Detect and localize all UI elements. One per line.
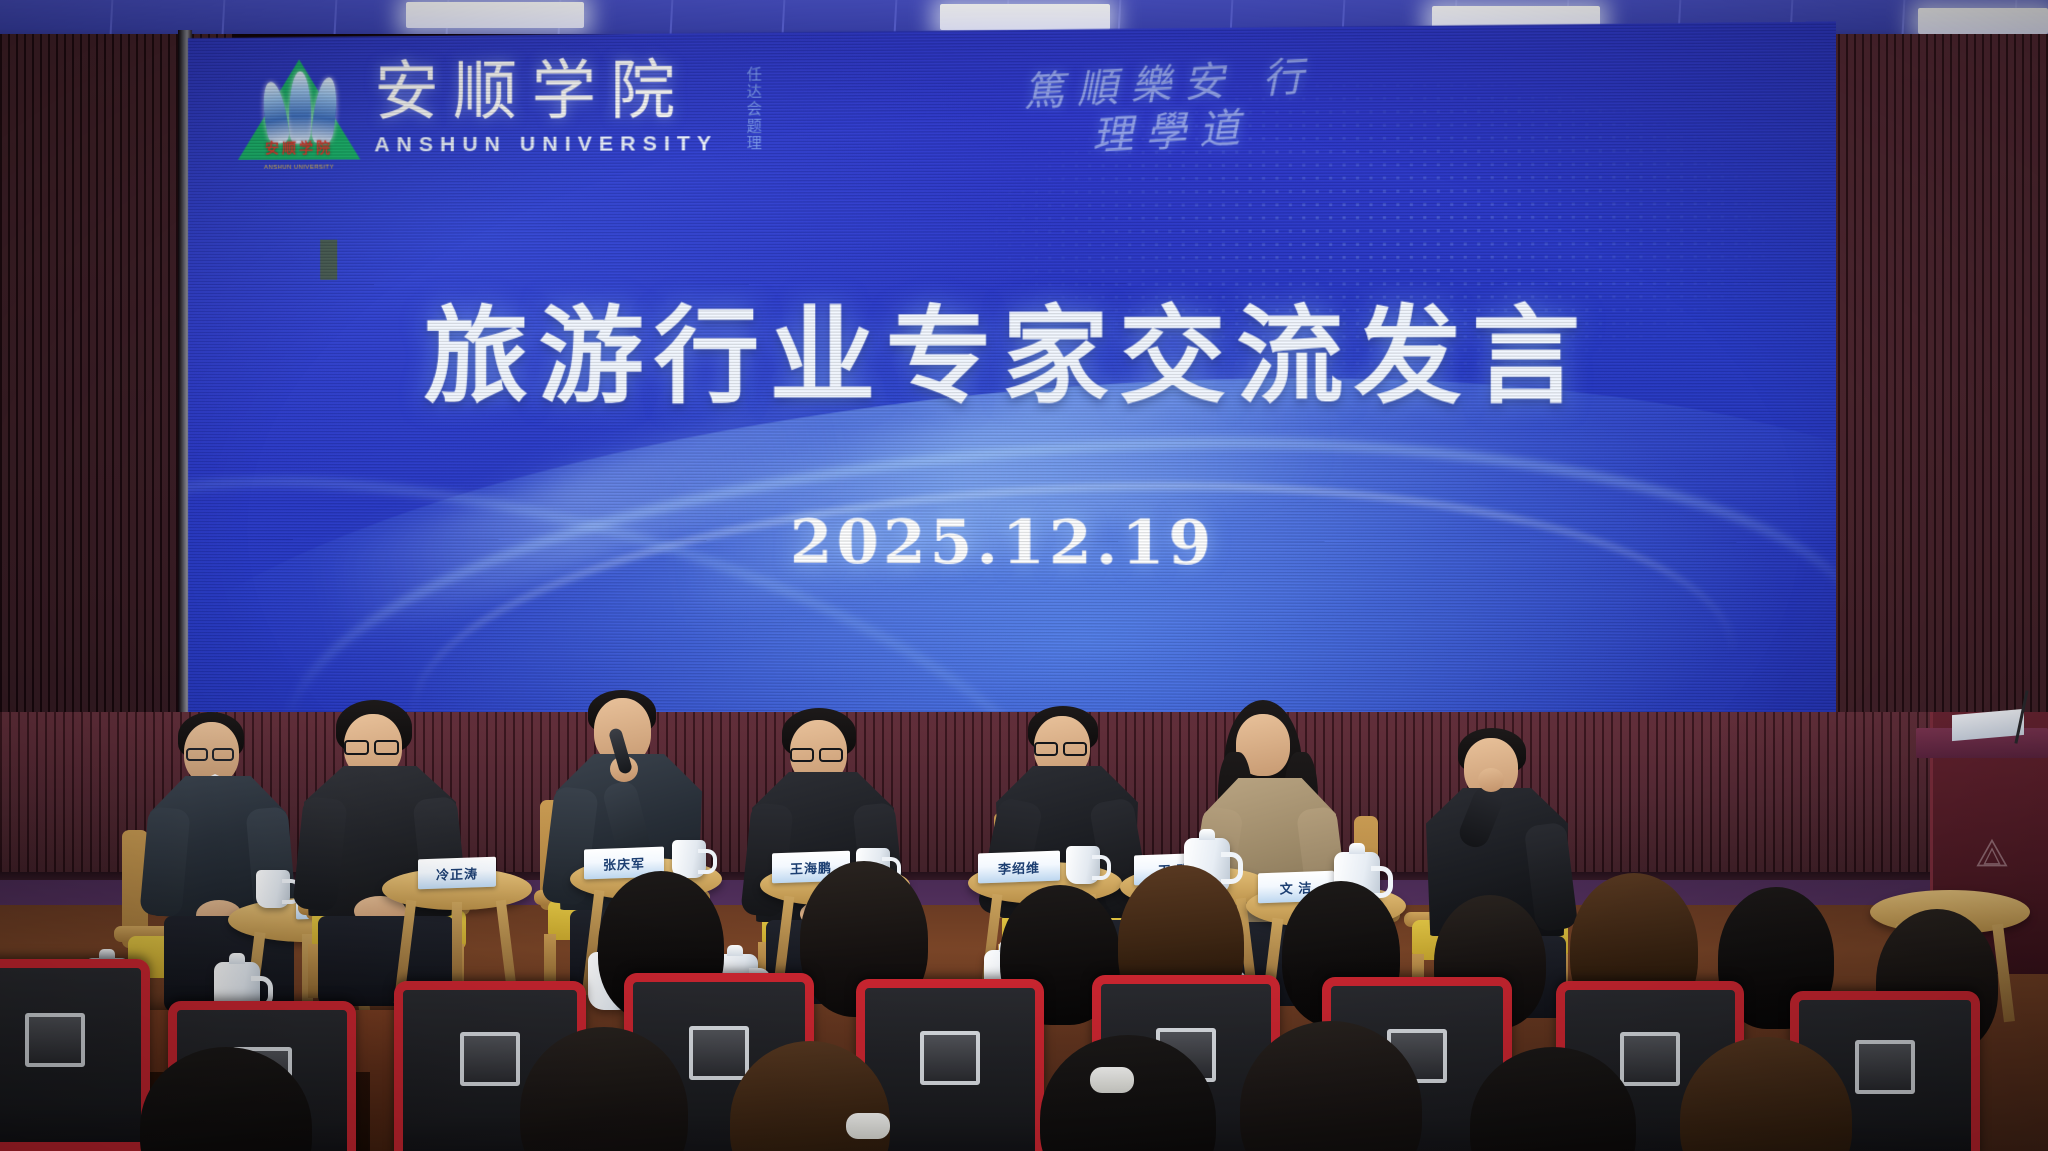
- seat-number-plate: [25, 1013, 85, 1067]
- logo-inner-text: 安顺学院: [248, 138, 350, 158]
- logo-inner-subtext: ANSHUN UNIVERSITY: [236, 165, 362, 171]
- audience-area: [0, 851, 2048, 1151]
- anshun-university-logo-icon: 安顺学院 ANSHUN UNIVERSITY: [238, 53, 360, 160]
- audience-seat[interactable]: [0, 959, 150, 1151]
- screen-branding-header: 安顺学院 ANSHUN UNIVERSITY 安顺学院 ANSHUN UNIVE…: [238, 51, 765, 160]
- event-title: 旅游行业专家交流发言: [188, 269, 1836, 424]
- vertical-motto-text: 任达会题理: [737, 67, 765, 159]
- calligraphy-motto: 篤順樂安 行理學道: [999, 52, 1344, 192]
- seat-number-plate: [460, 1032, 520, 1086]
- hair-bow: [1090, 1067, 1134, 1093]
- ceiling-light-panel: [406, 2, 584, 28]
- seat-number-plate: [920, 1031, 980, 1085]
- conference-photo-scene: 安顺学院 ANSHUN UNIVERSITY 安顺学院 ANSHUN UNIVE…: [0, 0, 2048, 1151]
- university-name-cn: 安顺学院: [374, 59, 718, 125]
- seat-number-plate: [689, 1026, 749, 1080]
- ceiling-light-panel: [1918, 8, 2048, 34]
- seat-number-plate: [1855, 1040, 1915, 1094]
- university-name-en: ANSHUN UNIVERSITY: [374, 132, 718, 157]
- led-backdrop-screen: 安顺学院 ANSHUN UNIVERSITY 安顺学院 ANSHUN UNIVE…: [188, 22, 1836, 729]
- seat-number-plate: [1620, 1032, 1680, 1086]
- hair-bow: [846, 1113, 890, 1139]
- event-date: 2025.12.19: [188, 506, 1836, 581]
- university-name-block: 安顺学院 ANSHUN UNIVERSITY: [374, 59, 718, 160]
